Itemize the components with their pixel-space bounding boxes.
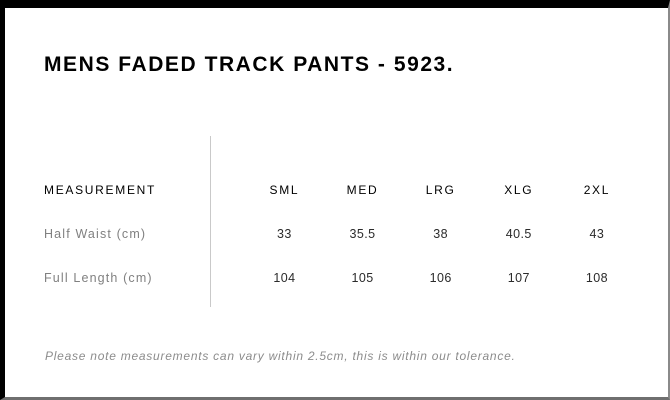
row-spacer-cell xyxy=(229,212,245,256)
row-label-full-length: Full Length (cm) xyxy=(44,256,229,300)
size-chart-card: MENS FADED TRACK PANTS - 5923. MEASUREME… xyxy=(0,0,670,400)
column-header-sml: SML xyxy=(245,168,323,212)
header-spacer-cell xyxy=(229,168,245,212)
column-header-measurement: MEASUREMENT xyxy=(44,168,229,212)
row-label-half-waist: Half Waist (cm) xyxy=(44,212,229,256)
cell-full-length-med: 105 xyxy=(323,256,401,300)
cell-half-waist-med: 35.5 xyxy=(323,212,401,256)
row-spacer-cell xyxy=(229,256,245,300)
cell-half-waist-xlg: 40.5 xyxy=(480,212,558,256)
size-chart-content: MENS FADED TRACK PANTS - 5923. MEASUREME… xyxy=(5,8,668,397)
table-header-row: MEASUREMENT SML MED LRG XLG 2XL xyxy=(44,168,636,212)
table-row: Full Length (cm) 104 105 106 107 108 xyxy=(44,256,636,300)
cell-half-waist-lrg: 38 xyxy=(402,212,480,256)
cell-full-length-2xl: 108 xyxy=(558,256,636,300)
column-header-lrg: LRG xyxy=(402,168,480,212)
cell-full-length-sml: 104 xyxy=(245,256,323,300)
table-row: Half Waist (cm) 33 35.5 38 40.5 43 xyxy=(44,212,636,256)
cell-half-waist-2xl: 43 xyxy=(558,212,636,256)
cell-full-length-lrg: 106 xyxy=(402,256,480,300)
size-measurements-table: MEASUREMENT SML MED LRG XLG 2XL Half Wai… xyxy=(44,168,636,300)
tolerance-note: Please note measurements can vary within… xyxy=(45,350,516,362)
cell-half-waist-sml: 33 xyxy=(245,212,323,256)
column-header-2xl: 2XL xyxy=(558,168,636,212)
column-header-xlg: XLG xyxy=(480,168,558,212)
cell-full-length-xlg: 107 xyxy=(480,256,558,300)
page-title: MENS FADED TRACK PANTS - 5923. xyxy=(44,54,454,75)
column-header-med: MED xyxy=(323,168,401,212)
